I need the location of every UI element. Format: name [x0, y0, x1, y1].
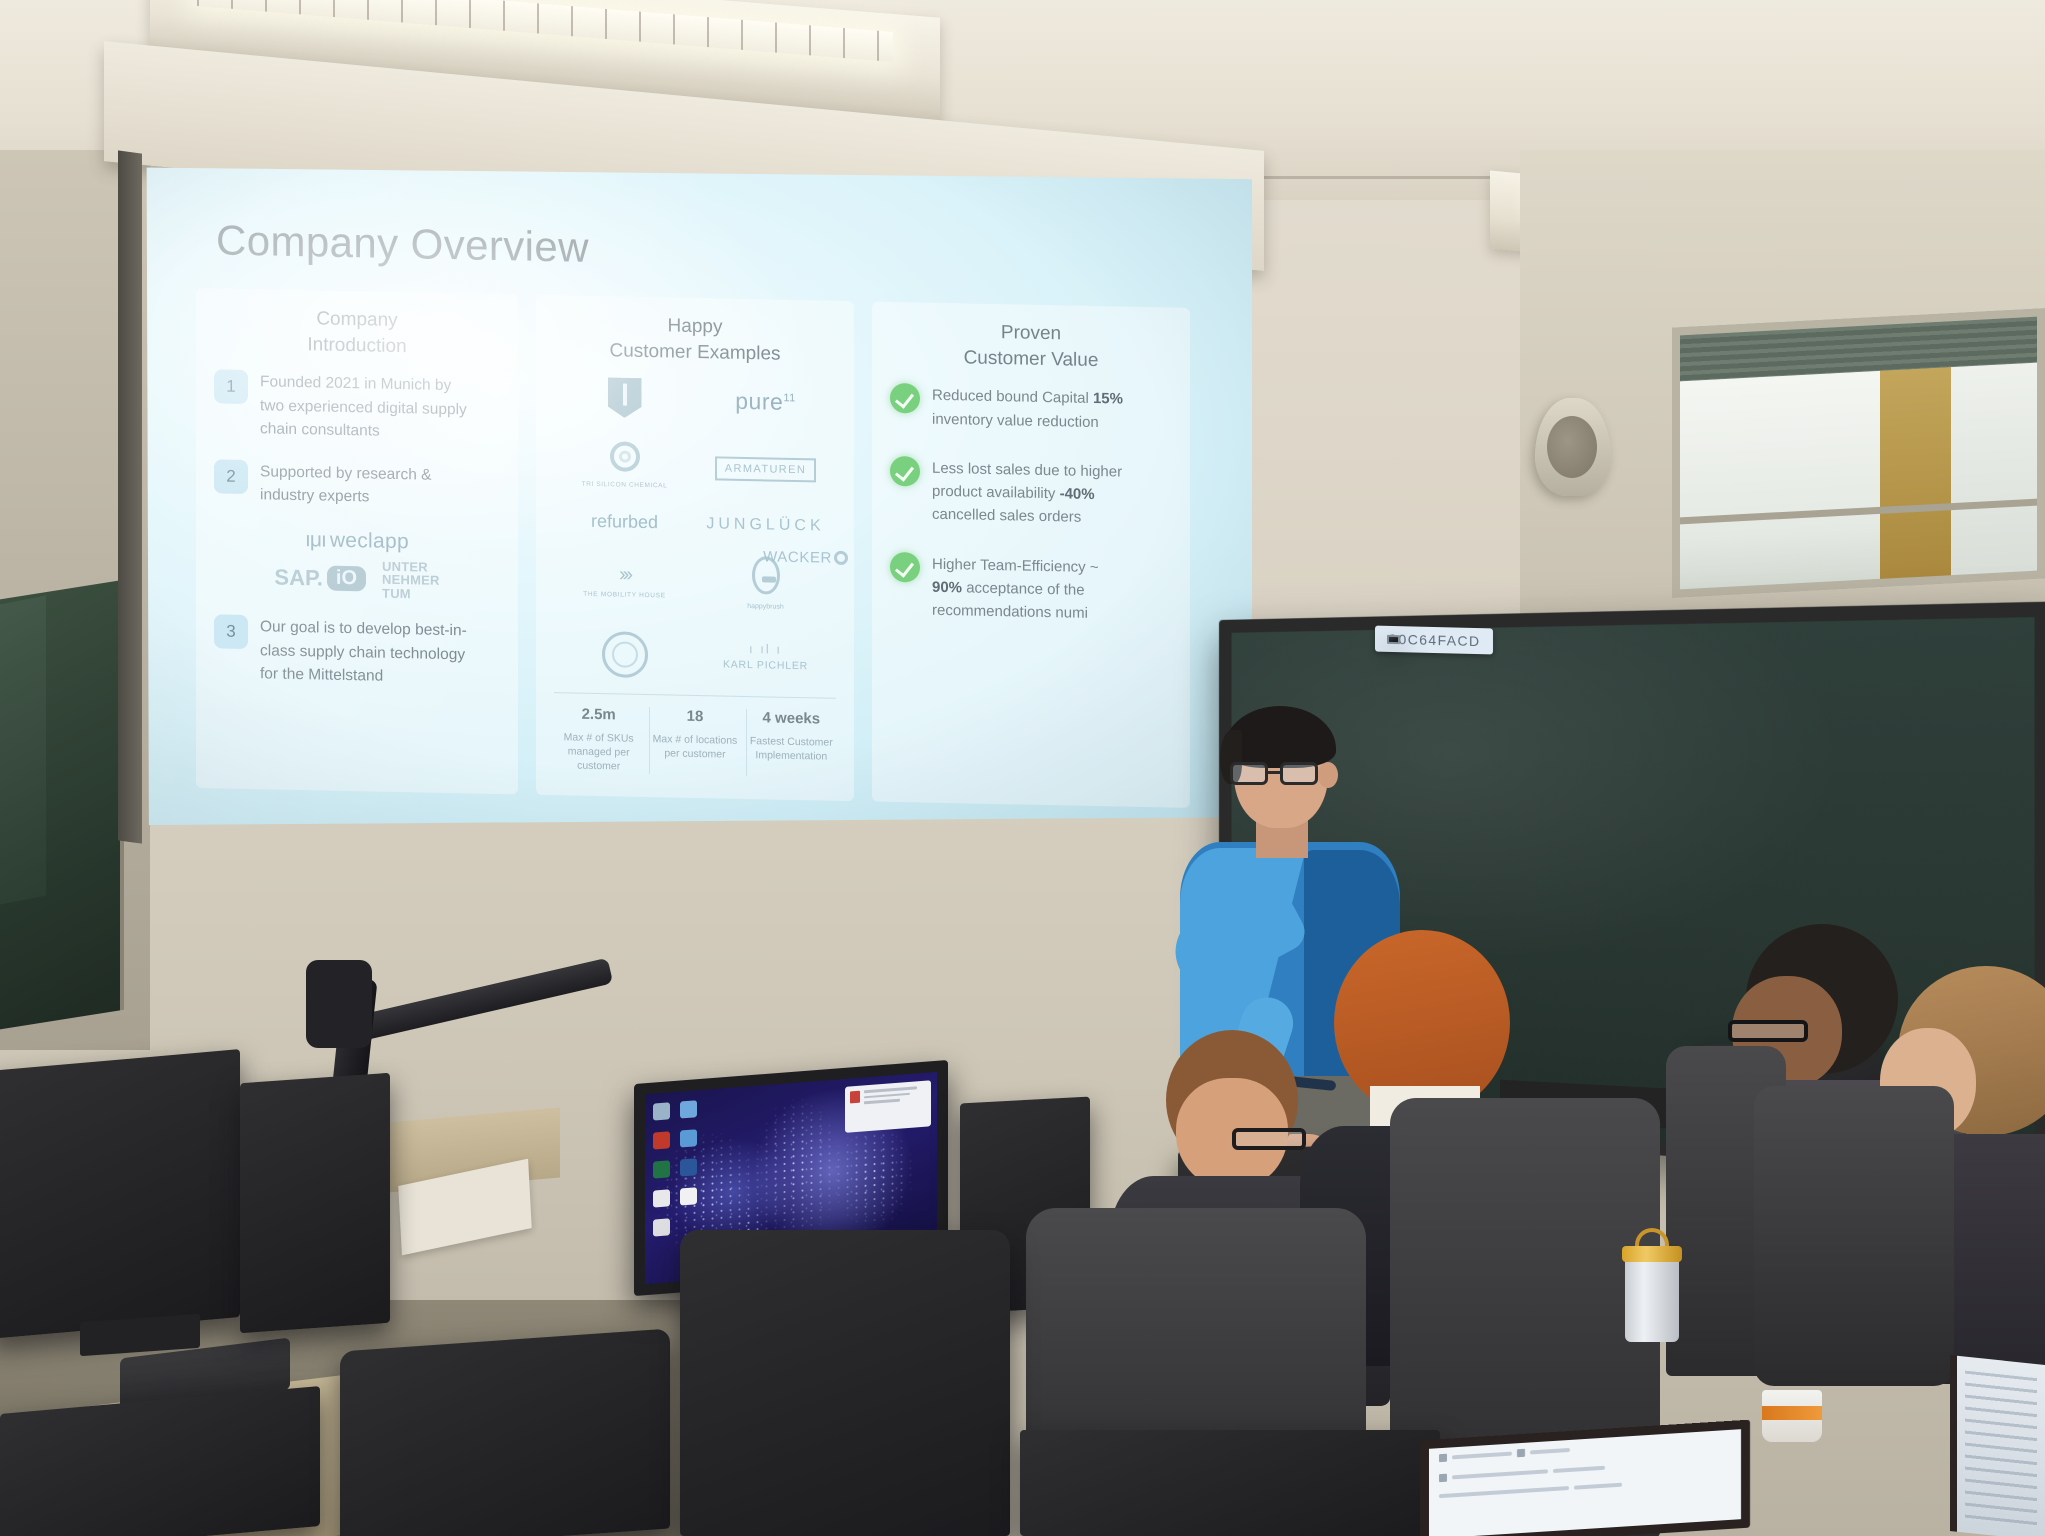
- customer-logo-grid: pure11 TRI SILICON CHEMICAL ARMATUREN re…: [554, 376, 836, 681]
- projection-screen: Company Overview Company Introduction 1 …: [140, 157, 1252, 847]
- notification-app-icon: [850, 1091, 860, 1104]
- recycle-bin-icon[interactable]: [653, 1102, 670, 1120]
- travel-mug[interactable]: [1625, 1256, 1679, 1342]
- mobility-house-label: THE MOBILITY HOUSE: [583, 591, 666, 600]
- student-laptop-screen[interactable]: [1420, 1420, 1750, 1536]
- partner-logo-group: ıμıweclapp SAP. iO UNTER NEHMER TU: [214, 526, 500, 603]
- armaturen-label: ARMATUREN: [715, 457, 816, 483]
- jungluck-label: JUNGLÜCK: [706, 515, 824, 534]
- notes-icon[interactable]: [680, 1187, 697, 1205]
- refurbed-label: refurbed: [591, 510, 658, 531]
- paper-cup[interactable]: [1762, 1390, 1822, 1442]
- customer-logo-ziehl: [608, 378, 642, 421]
- ring-icon: [610, 442, 640, 473]
- laptop-text-line: [1452, 1469, 1548, 1479]
- shield-icon: [608, 378, 642, 419]
- sap-io-logo: SAP. iO: [274, 565, 366, 593]
- value-text: Reduced bound Capital 15% inventory valu…: [932, 384, 1132, 435]
- window: [1672, 308, 2045, 598]
- panel-heading-line1: Proven: [1001, 322, 1061, 344]
- value-lead: Higher Team-Efficiency ~: [932, 555, 1099, 575]
- wacker-dot-icon: [834, 551, 848, 565]
- partner-logo-row: SAP. iO UNTER NEHMER TUM: [214, 556, 500, 603]
- customer-logo-wacker: WACKER: [763, 549, 848, 567]
- monitor-back: [1020, 1430, 1440, 1536]
- student-glasses-icon: [1728, 1020, 1808, 1042]
- chair-back: [340, 1328, 670, 1536]
- laptop-icon: [1439, 1454, 1447, 1463]
- customer-logo-refurbed: refurbed: [591, 511, 658, 532]
- student-monitor-right-edge[interactable]: [1950, 1355, 2045, 1536]
- panel-heading-line2: Customer Value: [890, 344, 1172, 375]
- item-number-badge: 2: [214, 459, 248, 494]
- projection-screen-left-edge: [118, 150, 142, 843]
- chevrons-icon: ›››: [583, 563, 666, 587]
- sap-io-chip: iO: [327, 566, 366, 592]
- laptop-text-line: [1553, 1466, 1605, 1473]
- customer-logo-mobility-house: ››› THE MOBILITY HOUSE: [583, 563, 666, 601]
- value-tail: inventory value reduction: [932, 410, 1099, 430]
- laptop-icon: [1517, 1449, 1525, 1458]
- panel-heading-line2: Introduction: [214, 330, 500, 361]
- customer-logo-jungluck: JUNGLÜCK: [706, 515, 824, 535]
- weclapp-label: weclapp: [330, 528, 409, 553]
- value-text: Less lost sales due to higher product av…: [932, 457, 1132, 531]
- stat-value: 2.5m: [554, 705, 643, 724]
- monitor-content-lines: [1965, 1371, 2037, 1527]
- pure11-sup: 11: [783, 392, 795, 404]
- check-circle-icon: [890, 551, 920, 582]
- check-circle-icon: [890, 456, 920, 487]
- stat-value: 4 weeks: [747, 709, 836, 728]
- light-grille: [197, 0, 892, 62]
- customer-logo-seal: [602, 631, 648, 678]
- tri-silicon-label: TRI SILICON CHEMICAL: [582, 481, 668, 490]
- list-item: 1 Founded 2021 in Munich by two experien…: [214, 370, 500, 445]
- check-circle-icon: [890, 383, 920, 414]
- chalkboard-left-panel: [0, 596, 46, 905]
- customer-logo-karl-pichler: ı ıl ı KARL PICHLER: [723, 642, 808, 673]
- seal-icon: [602, 631, 648, 678]
- value-metric: 90%: [932, 579, 962, 597]
- wall-speaker: [1535, 398, 1611, 496]
- wacker-label: WACKER: [763, 548, 832, 566]
- glasses-lens-right: [1280, 762, 1318, 785]
- panel-heading-line2: Customer Examples: [554, 337, 836, 368]
- panel-heading-line1: Happy: [668, 315, 723, 337]
- notification-line: [864, 1099, 900, 1104]
- chrome-icon[interactable]: [680, 1100, 697, 1118]
- glasses-lens-left: [1230, 762, 1268, 785]
- panel-heading: Happy Customer Examples: [554, 311, 836, 368]
- notification-body: [864, 1086, 926, 1127]
- slide-title: Company Overview: [216, 216, 1194, 284]
- files-icon[interactable]: [653, 1189, 670, 1207]
- monitor-back: [240, 1073, 390, 1333]
- monitor-icon: [1387, 634, 1400, 643]
- list-item: 3 Our goal is to develop best-in-class s…: [214, 615, 500, 690]
- sap-io-label: SAP.: [274, 565, 323, 592]
- panel-heading-line1: Company: [316, 308, 397, 331]
- karl-pichler-mark: ı ıl ı: [723, 642, 808, 658]
- laptop-text-line: [1574, 1483, 1622, 1490]
- folder-icon[interactable]: [653, 1218, 670, 1236]
- display-label-text: C0C64FACD: [1387, 631, 1481, 649]
- chair-armrest: [1754, 1086, 1954, 1386]
- utum-line3: TUM: [382, 587, 440, 602]
- notification-toast[interactable]: [845, 1080, 931, 1133]
- value-tail: cancelled sales orders: [932, 506, 1081, 526]
- excel-icon[interactable]: [653, 1160, 670, 1178]
- window-pane: [1680, 371, 1880, 598]
- value-text: Higher Team-Efficiency ~ 90% acceptance …: [932, 552, 1132, 626]
- desktop-icon-row: [653, 1157, 717, 1179]
- panel-company-introduction: Company Introduction 1 Founded 2021 in M…: [196, 288, 518, 794]
- panel-heading: Company Introduction: [214, 304, 500, 361]
- mug-lid: [1622, 1246, 1682, 1262]
- desktop-icon-row: [653, 1186, 717, 1208]
- weclapp-mark: ıμı: [305, 528, 326, 551]
- laptop-ui: [1429, 1429, 1741, 1536]
- item-text: Supported by research & industry experts: [260, 460, 475, 511]
- value-item: Less lost sales due to higher product av…: [890, 456, 1172, 531]
- window-pane: [1951, 363, 2037, 591]
- laptop-text-line: [1530, 1448, 1570, 1455]
- window-pane-wood: [1880, 367, 1951, 595]
- partner-logo-row: ıμıweclapp: [214, 526, 500, 556]
- karl-pichler-label: KARL PICHLER: [723, 658, 808, 672]
- stat-item: 2.5m Max # of SKUs managed per customer: [554, 705, 643, 774]
- teams-icon[interactable]: [680, 1129, 697, 1147]
- camera-head: [306, 960, 372, 1048]
- desktop-icon-grid: [653, 1099, 717, 1249]
- value-item: Higher Team-Efficiency ~ 90% acceptance …: [890, 551, 1172, 626]
- student-glasses-icon: [1232, 1128, 1306, 1150]
- stat-label: Max # of locations per customer: [650, 732, 739, 762]
- word-icon[interactable]: [680, 1158, 697, 1176]
- customer-logo-pure11: pure11: [735, 388, 795, 415]
- value-lead: Reduced bound Capital: [932, 387, 1093, 407]
- desktop-icon-row: [653, 1099, 717, 1121]
- item-text: Founded 2021 in Munich by two experience…: [260, 371, 475, 445]
- laptop-icon: [1439, 1474, 1447, 1483]
- item-text: Our goal is to develop best-in-class sup…: [260, 616, 475, 690]
- value-item: Reduced bound Capital 15% inventory valu…: [890, 383, 1172, 435]
- list-item: 2 Supported by research & industry exper…: [214, 459, 500, 511]
- panel-heading: Proven Customer Value: [890, 318, 1172, 375]
- laptop-text-line: [1439, 1486, 1569, 1498]
- laptop-text-line: [1452, 1452, 1512, 1460]
- cup-band: [1762, 1406, 1822, 1420]
- chair-back: [680, 1230, 1010, 1536]
- glasses-icon: [1228, 762, 1334, 786]
- stats-row: 2.5m Max # of SKUs managed per customer …: [554, 692, 836, 778]
- value-metric: -40%: [1060, 485, 1095, 503]
- stat-label: Fastest Customer Implementation: [747, 734, 836, 764]
- stat-item: 4 weeks Fastest Customer Implementation: [746, 709, 836, 778]
- pdf-icon[interactable]: [653, 1131, 670, 1149]
- value-metric: 15%: [1093, 390, 1123, 408]
- unternehmertum-logo: UNTER NEHMER TUM: [382, 559, 440, 601]
- customer-logo-armaturen: ARMATUREN: [715, 461, 816, 477]
- monitor-back: [0, 1049, 240, 1339]
- display-name-label: C0C64FACD: [1375, 626, 1493, 655]
- notification-line: [864, 1092, 910, 1098]
- slide-panels: Company Introduction 1 Founded 2021 in M…: [196, 288, 1196, 808]
- weclapp-logo: ıμıweclapp: [305, 528, 409, 554]
- pure11-label: pure: [735, 387, 783, 414]
- slide: Company Overview Company Introduction 1 …: [140, 157, 1252, 847]
- item-number-badge: 3: [214, 615, 248, 650]
- stat-item: 18 Max # of locations per customer: [649, 707, 739, 776]
- stat-value: 18: [650, 707, 739, 726]
- happybrush-label: happybrush: [747, 603, 784, 611]
- stat-label: Max # of SKUs managed per customer: [554, 730, 643, 774]
- customer-logo-tri-silicon: TRI SILICON CHEMICAL: [582, 441, 668, 491]
- desktop-icon-row: [653, 1128, 717, 1150]
- item-number-badge: 1: [214, 370, 248, 405]
- lecture-hall-scene: Company Overview Company Introduction 1 …: [0, 0, 2045, 1536]
- panel-happy-customer-examples: Happy Customer Examples pure11 TRI SILIC…: [536, 295, 854, 801]
